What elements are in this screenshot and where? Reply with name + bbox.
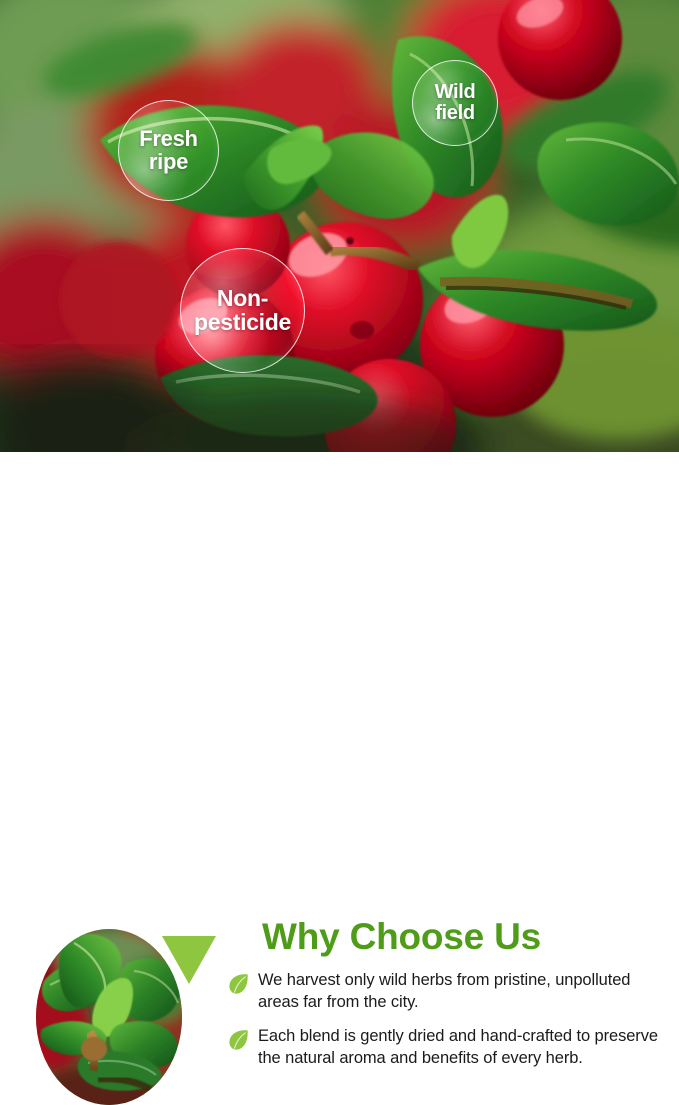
- hero-photo-artwork: [0, 0, 679, 452]
- why-choose-us-section: Why Choose Us We harvest only wild herbs…: [0, 452, 679, 679]
- bubble-non-pesticide-label: Non- pesticide: [190, 287, 295, 335]
- leaf-icon-glyph: [228, 1028, 250, 1052]
- leaf-icon-glyph: [228, 972, 250, 996]
- bubble-wild-field: Wild field: [412, 60, 498, 146]
- sprig-circle-image: [36, 929, 182, 1105]
- sprig-circle-artwork: [36, 929, 182, 1105]
- list-item: Each blend is gently dried and hand-craf…: [228, 1026, 668, 1070]
- bubble-non-pesticide: Non- pesticide: [180, 248, 305, 373]
- list-item-text: We harvest only wild herbs from pristine…: [258, 970, 668, 1014]
- leaf-icon: [228, 1028, 250, 1052]
- leaf-icon: [228, 972, 250, 996]
- bubble-wild-field-label: Wild field: [431, 82, 480, 124]
- bubble-fresh-ripe-label: Fresh ripe: [135, 128, 201, 174]
- bubble-fresh-ripe: Fresh ripe: [118, 100, 219, 201]
- list-item: We harvest only wild herbs from pristine…: [228, 970, 668, 1014]
- list-item-text: Each blend is gently dried and hand-craf…: [258, 1026, 668, 1070]
- benefits-list: We harvest only wild herbs from pristine…: [228, 970, 668, 1082]
- hero-photo: Fresh ripe Wild field Non- pesticide: [0, 0, 679, 452]
- page-title: Why Choose Us: [262, 918, 541, 955]
